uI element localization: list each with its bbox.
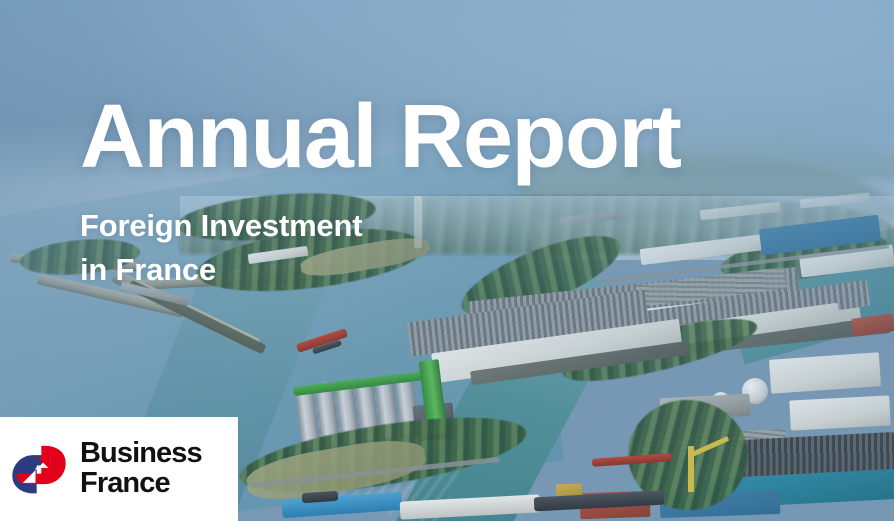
logo-wordmark-line-1: Business xyxy=(80,439,202,469)
logo-wordmark-line-2: France xyxy=(80,469,202,499)
logo-panel: Business France xyxy=(0,417,238,521)
warehouse xyxy=(769,352,881,394)
annual-report-cover: Annual Report Foreign Investment in Fran… xyxy=(0,0,894,521)
page-subtitle-line-2: in France xyxy=(80,248,680,292)
cover-text-block: Annual Report Foreign Investment in Fran… xyxy=(80,92,680,292)
page-subtitle-line-1: Foreign Investment xyxy=(80,204,680,248)
logo-wordmark: Business France xyxy=(80,439,202,498)
warehouse xyxy=(789,395,890,430)
business-france-arrow-logo-icon xyxy=(10,440,68,498)
page-subtitle: Foreign Investment in France xyxy=(80,204,680,292)
page-title: Annual Report xyxy=(80,92,680,182)
